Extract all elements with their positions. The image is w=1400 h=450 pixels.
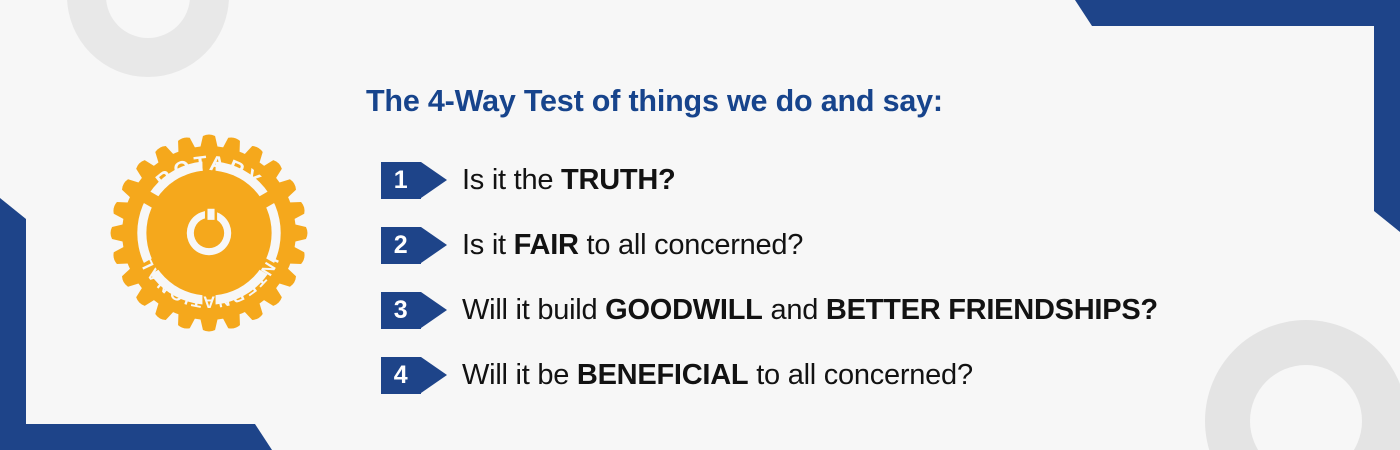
arrow-right-icon xyxy=(421,357,447,393)
arrow-right-icon xyxy=(421,227,447,263)
list-item-text: Will it build GOODWILL and BETTER FRIEND… xyxy=(462,294,1158,327)
arrow-right-icon xyxy=(421,162,447,198)
banner-content: The 4-Way Test of things we do and say: … xyxy=(366,0,1366,450)
badge-number: 1 xyxy=(381,162,421,199)
list-item: 4 Will it be BENEFICIAL to all concerned… xyxy=(366,343,1366,408)
arrow-right-icon xyxy=(421,292,447,328)
list-item: 3 Will it build GOODWILL and BETTER FRIE… xyxy=(366,278,1366,343)
list-item: 1 Is it the TRUTH? xyxy=(366,148,1366,213)
item-number-badge: 1 xyxy=(381,162,447,199)
item-number-badge: 3 xyxy=(381,292,447,329)
four-way-test-banner: ROTARY INTERNATIONAL The 4-Way Test of t… xyxy=(0,0,1400,450)
rotary-wheel-icon: ROTARY INTERNATIONAL xyxy=(108,132,310,334)
decor-bar-right-edge xyxy=(1374,0,1400,232)
decor-bar-left-edge xyxy=(0,198,26,450)
badge-number: 4 xyxy=(381,357,421,394)
item-number-badge: 4 xyxy=(381,357,447,394)
four-way-test-list: 1 Is it the TRUTH? 2 Is it FAIR to all c… xyxy=(366,148,1366,408)
decor-band-bottom-left xyxy=(0,424,272,450)
badge-number: 2 xyxy=(381,227,421,264)
item-number-badge: 2 xyxy=(381,227,447,264)
list-item-text: Will it be BENEFICIAL to all concerned? xyxy=(462,359,973,392)
list-item-text: Is it the TRUTH? xyxy=(462,164,676,197)
list-item-text: Is it FAIR to all concerned? xyxy=(462,229,803,262)
badge-number: 3 xyxy=(381,292,421,329)
list-item: 2 Is it FAIR to all concerned? xyxy=(366,213,1366,278)
page-title: The 4-Way Test of things we do and say: xyxy=(366,84,943,119)
rotary-international-logo: ROTARY INTERNATIONAL xyxy=(108,132,310,334)
